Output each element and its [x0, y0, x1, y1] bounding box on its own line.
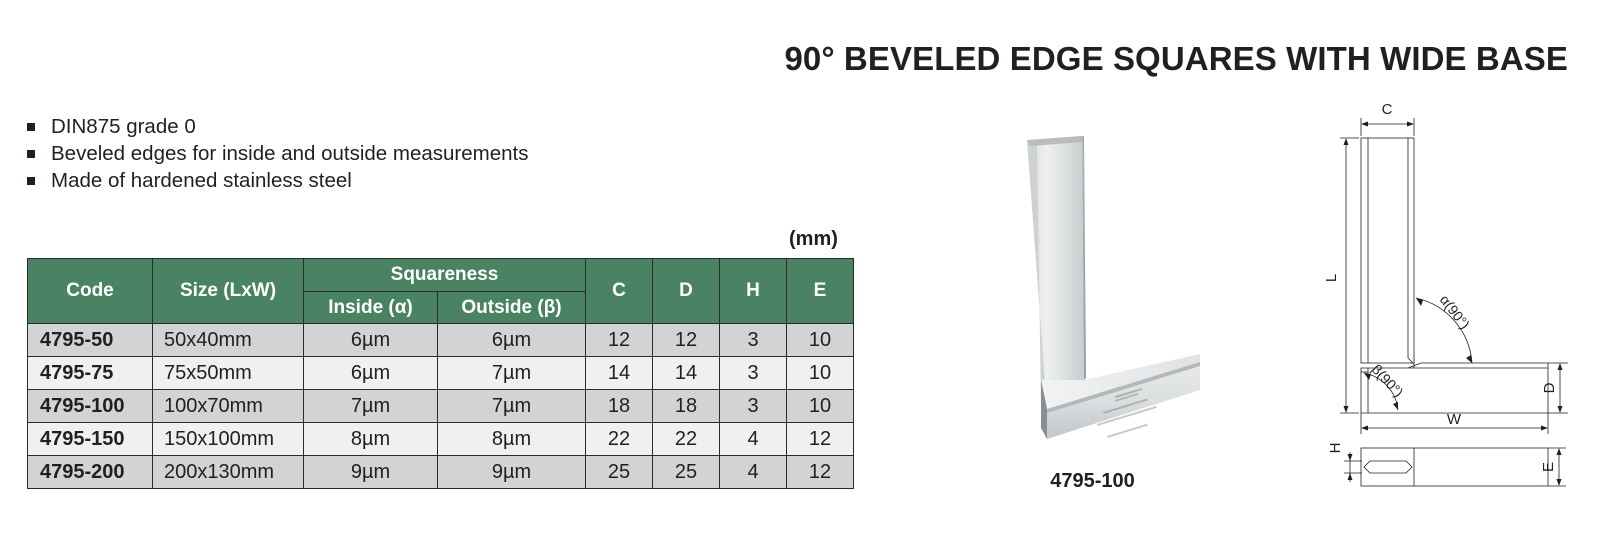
list-item: DIN875 grade 0 — [24, 113, 529, 140]
drawing-plan-view — [1361, 448, 1548, 486]
table-header-row-1: Code Size (LxW) Squareness C D H E — [28, 259, 854, 292]
technical-drawing: C L W D — [1288, 100, 1588, 500]
cell-d: 18 — [653, 390, 720, 423]
dimension-label-l: L — [1323, 274, 1340, 282]
angle-label-alpha: α(90°) — [1437, 292, 1473, 332]
cell-c: 18 — [586, 390, 653, 423]
cell-e: 10 — [787, 357, 854, 390]
dimension-label-e: E — [1540, 462, 1557, 472]
cell-inside: 8µm — [304, 423, 438, 456]
cell-size: 100x70mm — [153, 390, 304, 423]
cell-h: 3 — [720, 324, 787, 357]
cell-size: 50x40mm — [153, 324, 304, 357]
cell-e: 12 — [787, 423, 854, 456]
column-header-d: D — [653, 259, 720, 324]
dimension-label-c: C — [1382, 101, 1393, 118]
list-item: Made of hardened stainless steel — [24, 167, 529, 194]
cell-d: 25 — [653, 456, 720, 489]
column-header-size: Size (LxW) — [153, 259, 304, 324]
column-header-outside: Outside (β) — [438, 292, 586, 324]
cell-size: 200x130mm — [153, 456, 304, 489]
cell-code: 4795-100 — [28, 390, 153, 423]
cell-h: 3 — [720, 357, 787, 390]
column-header-c: C — [586, 259, 653, 324]
square-blade — [1027, 136, 1086, 409]
table-row: 4795-100 100x70mm 7µm 7µm 18 18 3 10 — [28, 390, 854, 423]
product-photo — [985, 128, 1200, 448]
cell-inside: 9µm — [304, 456, 438, 489]
cell-c: 14 — [586, 357, 653, 390]
cell-c: 25 — [586, 456, 653, 489]
cell-code: 4795-50 — [28, 324, 153, 357]
cell-code: 4795-75 — [28, 357, 153, 390]
cell-e: 10 — [787, 390, 854, 423]
cell-d: 22 — [653, 423, 720, 456]
list-item: Beveled edges for inside and outside mea… — [24, 140, 529, 167]
cell-size: 75x50mm — [153, 357, 304, 390]
specification-table: Code Size (LxW) Squareness C D H E Insid… — [27, 258, 854, 489]
page-title: 90° BEVELED EDGE SQUARES WITH WIDE BASE — [784, 40, 1568, 78]
dimension-label-w: W — [1447, 411, 1462, 428]
drawing-blade-outline — [1361, 138, 1414, 368]
column-header-squareness: Squareness — [304, 259, 586, 292]
cell-code: 4795-200 — [28, 456, 153, 489]
column-header-e: E — [787, 259, 854, 324]
cell-outside: 9µm — [438, 456, 586, 489]
dimension-label-h: H — [1327, 443, 1344, 454]
cell-e: 10 — [787, 324, 854, 357]
cell-e: 12 — [787, 456, 854, 489]
feature-text: Made of hardened stainless steel — [51, 169, 352, 192]
dimension-h — [1344, 452, 1362, 482]
feature-text: DIN875 grade 0 — [51, 115, 196, 138]
table-row: 4795-150 150x100mm 8µm 8µm 22 22 4 12 — [28, 423, 854, 456]
cell-h: 4 — [720, 456, 787, 489]
dimension-label-d: D — [1541, 382, 1558, 393]
cell-d: 14 — [653, 357, 720, 390]
column-header-inside: Inside (α) — [304, 292, 438, 324]
cell-inside: 6µm — [304, 324, 438, 357]
dimension-c — [1361, 118, 1414, 136]
table-row: 4795-75 75x50mm 6µm 7µm 14 14 3 10 — [28, 357, 854, 390]
table-row: 4795-50 50x40mm 6µm 6µm 12 12 3 10 — [28, 324, 854, 357]
cell-c: 12 — [586, 324, 653, 357]
column-header-code: Code — [28, 259, 153, 324]
cell-code: 4795-150 — [28, 423, 153, 456]
cell-c: 22 — [586, 423, 653, 456]
product-photo-caption: 4795-100 — [985, 470, 1200, 493]
cell-h: 4 — [720, 423, 787, 456]
feature-text: Beveled edges for inside and outside mea… — [51, 142, 529, 165]
cell-size: 150x100mm — [153, 423, 304, 456]
cell-inside: 7µm — [304, 390, 438, 423]
angle-label-beta: β(90°) — [1369, 361, 1407, 400]
cell-h: 3 — [720, 390, 787, 423]
feature-list: DIN875 grade 0 Beveled edges for inside … — [24, 113, 529, 194]
cell-outside: 8µm — [438, 423, 586, 456]
bullet-square-icon — [27, 123, 35, 131]
bullet-square-icon — [27, 150, 35, 158]
cell-outside: 7µm — [438, 357, 586, 390]
dimension-l — [1340, 138, 1359, 413]
unit-note: (mm) — [789, 228, 838, 251]
column-header-h: H — [720, 259, 787, 324]
cell-outside: 7µm — [438, 390, 586, 423]
cell-d: 12 — [653, 324, 720, 357]
cell-outside: 6µm — [438, 324, 586, 357]
table-row: 4795-200 200x130mm 9µm 9µm 25 25 4 12 — [28, 456, 854, 489]
cell-inside: 6µm — [304, 357, 438, 390]
bullet-square-icon — [27, 177, 35, 185]
